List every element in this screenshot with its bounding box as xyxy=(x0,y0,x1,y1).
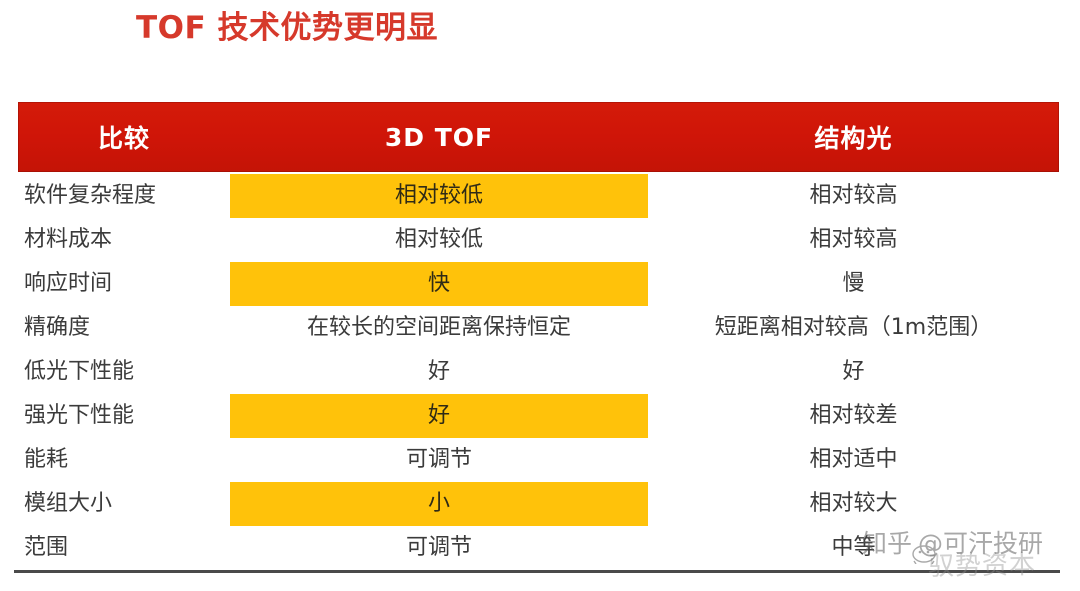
comparison-table: 比较 3D TOF 结构光 软件复杂程度相对较低相对较高材料成本相对较低相对较高… xyxy=(18,102,1059,574)
row-metric-label: 材料成本 xyxy=(18,218,230,262)
column-header-structured: 结构光 xyxy=(648,119,1059,155)
row-value-structured-light: 相对适中 xyxy=(648,438,1059,482)
row-value-3dtof: 可调节 xyxy=(230,526,648,570)
row-value-3dtof: 相对较低 xyxy=(230,174,648,218)
table-row: 软件复杂程度相对较低相对较高 xyxy=(18,174,1059,218)
table-row: 精确度在较长的空间距离保持恒定短距离相对较高（1m范围） xyxy=(18,306,1059,350)
table-row: 模组大小小相对较大 xyxy=(18,482,1059,526)
row-value-3dtof: 相对较低 xyxy=(230,218,648,262)
table-header-row: 比较 3D TOF 结构光 xyxy=(18,102,1059,172)
row-value-3dtof: 好 xyxy=(230,350,648,394)
row-value-3dtof: 在较长的空间距离保持恒定 xyxy=(230,306,648,350)
row-metric-label: 软件复杂程度 xyxy=(18,174,230,218)
row-metric-label: 模组大小 xyxy=(18,482,230,526)
row-value-structured-light: 相对较大 xyxy=(648,482,1059,526)
row-metric-label: 强光下性能 xyxy=(18,394,230,438)
row-value-structured-light: 中等 xyxy=(648,526,1059,570)
table-row: 能耗可调节相对适中 xyxy=(18,438,1059,482)
table-body: 软件复杂程度相对较低相对较高材料成本相对较低相对较高响应时间快慢精确度在较长的空… xyxy=(18,172,1059,570)
row-value-structured-light: 相对较高 xyxy=(648,174,1059,218)
row-metric-label: 能耗 xyxy=(18,438,230,482)
row-metric-label: 低光下性能 xyxy=(18,350,230,394)
row-value-3dtof: 好 xyxy=(230,394,648,438)
table-row: 范围可调节中等 xyxy=(18,526,1059,570)
slide-canvas: TOF 技术优势更明显 比较 3D TOF 结构光 软件复杂程度相对较低相对较高… xyxy=(0,0,1080,591)
row-value-3dtof: 快 xyxy=(230,262,648,306)
table-row: 响应时间快慢 xyxy=(18,262,1059,306)
row-metric-label: 响应时间 xyxy=(18,262,230,306)
row-value-structured-light: 慢 xyxy=(648,262,1059,306)
row-value-structured-light: 好 xyxy=(648,350,1059,394)
row-value-structured-light: 短距离相对较高（1m范围） xyxy=(648,306,1059,350)
row-metric-label: 精确度 xyxy=(18,306,230,350)
table-row: 强光下性能好相对较差 xyxy=(18,394,1059,438)
row-value-structured-light: 相对较高 xyxy=(648,218,1059,262)
row-value-3dtof: 可调节 xyxy=(230,438,648,482)
row-value-3dtof: 小 xyxy=(230,482,648,526)
column-header-metric: 比较 xyxy=(18,119,230,155)
row-value-structured-light: 相对较差 xyxy=(648,394,1059,438)
page-title: TOF 技术优势更明显 xyxy=(136,7,438,49)
column-header-3dtof: 3D TOF xyxy=(230,123,648,152)
table-row: 低光下性能好好 xyxy=(18,350,1059,394)
row-metric-label: 范围 xyxy=(18,526,230,570)
table-row: 材料成本相对较低相对较高 xyxy=(18,218,1059,262)
table-bottom-rule xyxy=(14,570,1060,573)
